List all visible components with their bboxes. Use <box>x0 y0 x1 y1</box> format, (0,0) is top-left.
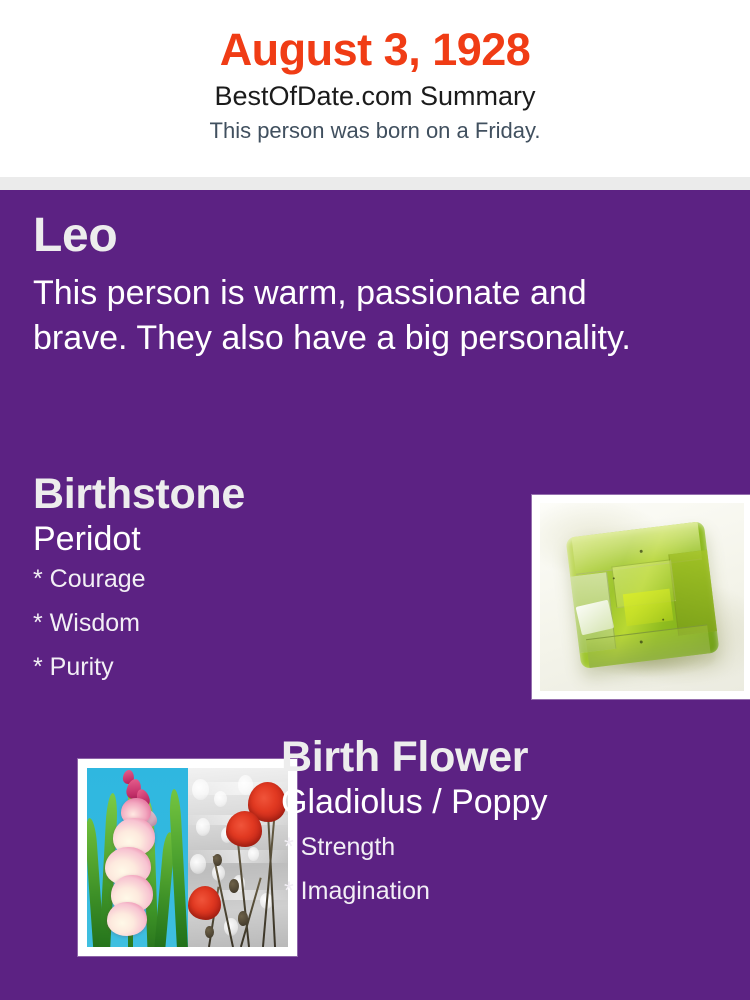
poppy-flower <box>188 886 221 920</box>
site-name: BestOfDate.com Summary <box>0 73 750 112</box>
zodiac-description: This person is warm, passionate and brav… <box>33 260 683 361</box>
content-panel: Leo This person is warm, passionate and … <box>0 190 750 1000</box>
bokeh-light <box>192 779 209 800</box>
birthstone-trait-list: * Courage * Wisdom * Purity <box>33 558 463 699</box>
birth-flower-name: Gladiolus / Poppy <box>281 779 721 821</box>
header-divider <box>0 177 750 190</box>
poppy-bud <box>213 854 222 867</box>
birthstone-name: Peridot <box>33 516 463 558</box>
poppy-photo-half <box>188 768 289 947</box>
page-title: August 3, 1928 <box>0 0 750 73</box>
list-item: * Courage <box>33 567 463 611</box>
poppy-bud <box>238 911 248 925</box>
gladiolus-bloom <box>107 902 147 936</box>
zodiac-section: Leo This person is warm, passionate and … <box>33 212 693 361</box>
list-item: * Imagination <box>284 879 721 923</box>
gladiolus-leaf <box>169 789 187 947</box>
birthstone-title: Birthstone <box>33 473 463 516</box>
birth-flower-photo-frame <box>78 759 297 956</box>
peridot-gemstone-image <box>540 503 744 691</box>
list-item: * Wisdom <box>33 611 463 655</box>
birthstone-section: Birthstone Peridot * Courage * Wisdom * … <box>33 473 463 699</box>
birth-flower-section: Birth Flower Gladiolus / Poppy * Strengt… <box>281 736 721 923</box>
gladiolus-and-poppy-image <box>87 768 288 947</box>
list-item: * Strength <box>284 835 721 879</box>
poppy-bud <box>229 879 239 893</box>
zodiac-sign-title: Leo <box>33 212 693 260</box>
born-day-note: This person was born on a Friday. <box>0 112 750 143</box>
gladiolus-photo-half <box>87 768 188 947</box>
birth-flower-title: Birth Flower <box>281 736 721 779</box>
birthstone-photo-frame <box>532 495 750 699</box>
bokeh-light <box>190 854 206 874</box>
poppy-flower <box>226 811 262 847</box>
birth-flower-trait-list: * Strength * Imagination <box>281 821 721 923</box>
bokeh-light <box>248 847 259 861</box>
bokeh-light <box>196 818 210 836</box>
card-header: August 3, 1928 BestOfDate.com Summary Th… <box>0 0 750 177</box>
peridot-crystal <box>565 521 719 669</box>
poppy-bud <box>205 926 214 939</box>
bokeh-light <box>214 791 227 807</box>
summary-card: August 3, 1928 BestOfDate.com Summary Th… <box>0 0 750 1000</box>
gem-facet-highlight <box>622 589 673 626</box>
list-item: * Purity <box>33 655 463 699</box>
